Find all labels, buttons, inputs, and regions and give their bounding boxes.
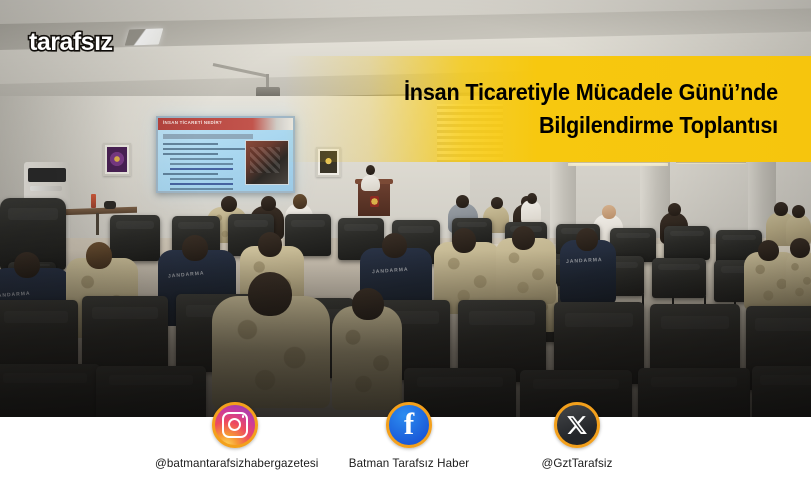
attendee-head [452, 228, 476, 253]
foreground-attendee-torso [332, 306, 402, 410]
foreground-attendee-head [248, 272, 292, 316]
brand-logo[interactable]: tarafsız [29, 28, 113, 57]
slide-body-text [163, 143, 251, 191]
instagram-handle[interactable]: @batmantarafsizhabergazetesi [155, 457, 315, 470]
attendee-head [512, 226, 535, 250]
speaker-body [361, 175, 380, 191]
social-item-x[interactable]: @GztTarafsiz [497, 402, 657, 470]
attendee-head [758, 240, 779, 261]
table-bottle [91, 194, 96, 208]
social-item-instagram[interactable]: @batmantarafsizhabergazetesi [155, 402, 315, 470]
chair [752, 366, 811, 420]
side-table-leg [96, 213, 99, 235]
attendee-head [774, 202, 788, 216]
x-twitter-icon[interactable] [554, 402, 600, 448]
attendee-head [792, 205, 805, 218]
chair [0, 364, 100, 420]
attendee-head [258, 232, 282, 257]
slide-illustration [245, 140, 289, 185]
air-conditioner-panel [30, 186, 62, 191]
chair [652, 258, 706, 298]
wall-plaque [103, 143, 131, 176]
headline-text: İnsan Ticaretiyle Mücadele Günü’nde Bilg… [382, 76, 778, 143]
headline-line-2: Bilgilendirme Toplantısı [382, 109, 778, 142]
attendee-head [491, 197, 503, 209]
chair [82, 296, 168, 374]
news-graphic-card: İNSAN TİCARETİ NEDİR? [0, 0, 811, 495]
attendee-head [182, 235, 208, 261]
projector-mount-drop [266, 74, 269, 88]
attendee-head [602, 205, 616, 219]
attendee-head [261, 196, 276, 211]
attendee-head [456, 195, 469, 208]
facebook-icon[interactable]: f [386, 402, 432, 448]
podium-emblem-icon [370, 196, 379, 207]
slide-header-text: İNSAN TİCARETİ NEDİR? [163, 120, 222, 125]
attendee-head [668, 203, 681, 216]
slide-subtitle-bar [163, 134, 253, 139]
attendee-head [14, 252, 40, 278]
projection-screen: İNSAN TİCARETİ NEDİR? [156, 116, 295, 193]
attendee-head [221, 196, 237, 212]
x-handle[interactable]: @GztTarafsiz [497, 457, 657, 470]
social-footer: @batmantarafsizhabergazetesi f Batman Ta… [0, 417, 811, 495]
headline-line-1: İnsan Ticaretiyle Mücadele Günü’nde [382, 76, 778, 109]
speaker-head [366, 165, 375, 175]
foreground-attendee-head [352, 288, 384, 320]
ceiling-light-icon [125, 28, 164, 45]
air-conditioner-vent [28, 168, 66, 182]
attendee-head [86, 242, 112, 269]
attendee-head [527, 193, 537, 204]
chair [110, 215, 160, 261]
table-item [104, 201, 116, 209]
facebook-handle[interactable]: Batman Tarafsız Haber [329, 457, 489, 470]
presentation-slide: İNSAN TİCARETİ NEDİR? [158, 118, 293, 191]
attendee-head [790, 238, 810, 258]
attendee-torso [786, 250, 811, 306]
attendee-head [576, 228, 598, 251]
slide-header-bar: İNSAN TİCARETİ NEDİR? [158, 118, 293, 130]
chair [664, 226, 710, 260]
attendee-head [382, 233, 407, 258]
social-item-facebook[interactable]: f Batman Tarafsız Haber [329, 402, 489, 470]
headline-banner: İnsan Ticaretiyle Mücadele Günü’nde Bilg… [284, 56, 811, 162]
instagram-icon[interactable] [212, 402, 258, 448]
attendee-head [293, 194, 307, 209]
